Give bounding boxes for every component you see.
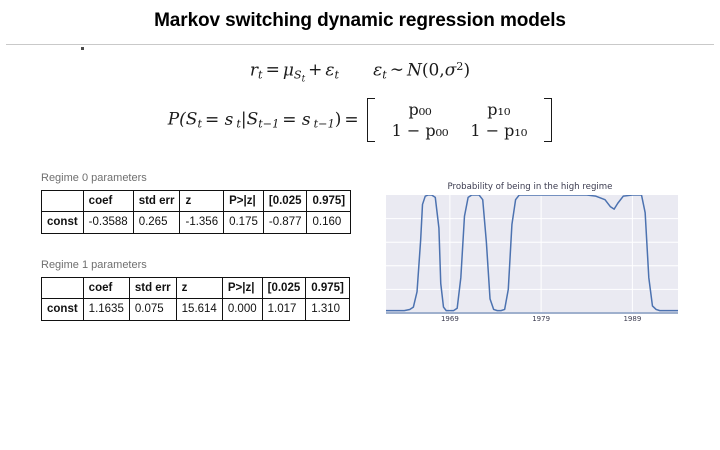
transition-equation: P(St= st|St−1= st−1)= p₀₀ p₁₀ 1 − p₀₀ 1 … [0,98,720,142]
regime1-caption: Regime 1 parameters [41,259,147,271]
eq2-eq2: = s [279,110,313,130]
eq2-lhs-sub2: t−1 [258,118,279,131]
chart-title: Probability of being in the high regime [380,182,680,192]
regime0-caption: Regime 0 parameters [41,172,147,184]
page-title: Markov switching dynamic regression mode… [0,10,720,32]
matrix-right-bracket [544,98,552,142]
regime1-col-coef: coef [83,278,129,299]
matrix-cell-1-minus-p10: 1 − p₁₀ [459,120,538,141]
matrix-body: p₀₀ p₁₀ 1 − p₀₀ 1 − p₁₀ [375,98,545,142]
eq1-mu: μ [283,60,294,80]
regime1-cell-ci-low: 1.017 [262,299,306,320]
regime0-col-coef: coef [83,191,133,212]
regime0-cell-std-err: 0.265 [133,212,180,233]
table-header-row: coef std err z P>|z| [0.025 0.975] [42,191,351,212]
regime0-cell-ci-high: 0.160 [307,212,351,233]
chart-gridlines [386,195,678,313]
eq2-conditional-bar: |S [241,110,258,130]
transition-matrix: p₀₀ p₁₀ 1 − p₀₀ 1 − p₁₀ [367,98,553,142]
eq2-eq2-sub: t−1 [314,118,335,131]
regime1-col-blank [42,278,84,299]
chart-series-line [386,195,678,311]
regime0-col-ci-low: [0.025 [263,191,307,212]
matrix-cell-1-minus-p00: 1 − p₀₀ [381,120,460,141]
regime0-results-table: coef std err z P>|z| [0.025 0.975] const… [41,190,351,234]
regime0-col-std-err: std err [133,191,180,212]
table-row: const -0.3588 0.265 -1.356 0.175 -0.877 … [42,212,351,233]
header-divider [6,44,714,45]
regime1-col-ci-high: 0.975] [306,278,350,299]
eq1-r-sub: t [258,69,263,82]
eq1-equals: = [263,60,283,80]
regime1-cell-ci-high: 1.310 [306,299,350,320]
stray-dot-marker [81,47,84,50]
regime0-cell-pvalue: 0.175 [224,212,264,233]
regime1-col-z: z [176,278,222,299]
eq1-mu-sub-state: S [294,69,302,82]
observation-equation: rt=μSt+εtεt∼N(0,σ2) [0,60,720,84]
eq1-r-var: r [250,60,258,80]
eq2-equals: = [341,110,361,130]
regime1-col-ci-low: [0.025 [262,278,306,299]
eq1-normal-symbol: N [407,60,422,80]
regime1-row-name: const [42,299,84,320]
regime0-cell-ci-low: -0.877 [263,212,307,233]
regime0-col-blank [42,191,84,212]
regime1-cell-coef: 1.1635 [83,299,129,320]
regime0-col-ci-high: 0.975] [307,191,351,212]
regime1-col-pvalue: P>|z| [222,278,262,299]
x-tick-label: 1969 [441,315,459,323]
regime0-row-name: const [42,212,84,233]
regime1-col-std-err: std err [129,278,176,299]
eq1-epsilon-sub: t [335,69,340,82]
chart-svg [386,195,678,313]
chart-x-axis-line [386,312,678,314]
regime0-col-z: z [180,191,224,212]
regime0-cell-z: -1.356 [180,212,224,233]
matrix-cell-p00: p₀₀ [381,99,460,120]
regime-probability-chart: Probability of being in the high regime … [380,182,680,330]
table-header-row: coef std err z P>|z| [0.025 0.975] [42,278,350,299]
regime1-cell-std-err: 0.075 [129,299,176,320]
chart-plot-area [386,195,678,313]
regime1-results-table: coef std err z P>|z| [0.025 0.975] const… [41,277,350,321]
eq2-lhs-open: P(S [168,110,198,130]
regime1-cell-pvalue: 0.000 [222,299,262,320]
table-row: const 1.1635 0.075 15.614 0.000 1.017 1.… [42,299,350,320]
regime0-cell-coef: -0.3588 [83,212,133,233]
eq1-epsilon: ε [325,60,334,80]
x-tick-label: 1989 [623,315,641,323]
eq1-noise-epsilon: ε [373,60,382,80]
matrix-left-bracket [367,98,375,142]
eq1-sigma: σ [445,60,457,80]
eq2-eq1: = s [202,110,236,130]
eq1-tilde: ∼ [387,60,407,80]
matrix-cell-p10: p₁₀ [459,99,538,120]
eq1-normal-open: (0, [422,60,445,80]
matrix-row: p₀₀ p₁₀ [381,99,539,120]
x-tick-label: 1979 [532,315,550,323]
matrix-row: 1 − p₀₀ 1 − p₁₀ [381,120,539,141]
regime0-col-pvalue: P>|z| [224,191,264,212]
eq1-normal-close: ) [463,60,470,80]
eq1-plus: + [305,60,325,80]
regime1-cell-z: 15.614 [176,299,222,320]
